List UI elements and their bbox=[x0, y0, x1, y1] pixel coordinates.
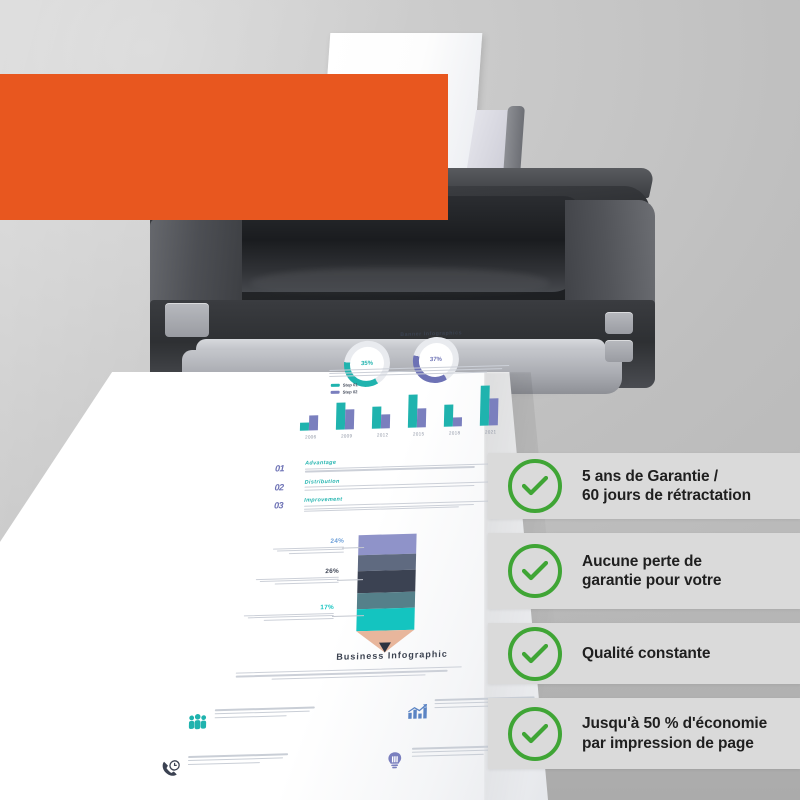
step-number: 03 bbox=[274, 500, 283, 510]
pencil-pyramid-chart bbox=[356, 534, 417, 646]
bar-category-label: 2006 bbox=[296, 434, 326, 440]
list-item: 02 Distribution bbox=[274, 474, 489, 492]
pyramid-label-1: 24% bbox=[258, 538, 344, 555]
feature-block-support bbox=[160, 753, 288, 768]
callout-4-line2: par impression de page bbox=[582, 734, 767, 753]
donut-chart-1: 35% bbox=[343, 340, 390, 387]
callout-1-line1: 5 ans de Garantie / bbox=[582, 467, 751, 486]
donut-chart-2: 37% bbox=[412, 336, 459, 383]
bar-group bbox=[440, 426, 470, 427]
bar-group bbox=[368, 428, 398, 429]
people-group-icon bbox=[186, 711, 208, 732]
bar-category-label: 2021 bbox=[476, 429, 506, 435]
bar-chart-growth-icon bbox=[406, 701, 428, 722]
pyramid-label-3: 17% bbox=[234, 604, 334, 622]
bar-group bbox=[404, 427, 434, 428]
pyramid-segment-1 bbox=[358, 534, 416, 556]
bar-step-02 bbox=[489, 398, 499, 426]
infographic-bottom-title: Business Infographic bbox=[307, 648, 477, 663]
lightbulb-idea-icon bbox=[383, 750, 405, 771]
bar-step-02 bbox=[345, 409, 354, 429]
bar-step-02 bbox=[381, 415, 390, 429]
callout-1-line2: 60 jours de rétractation bbox=[582, 486, 751, 505]
pyramid-label-3-value: 17% bbox=[234, 604, 334, 614]
list-item: 01 Advantage bbox=[275, 456, 490, 474]
numbered-step-list: 01 Advantage 02 Distribution 03 Improvem… bbox=[274, 456, 490, 521]
check-circle-icon bbox=[508, 544, 562, 598]
check-circle-icon bbox=[508, 627, 562, 681]
feature-callout-2-text: Aucune perte de garantie pour votre bbox=[582, 552, 721, 591]
step-number: 01 bbox=[275, 463, 284, 473]
feature-callout-1[interactable]: 5 ans de Garantie / 60 jours de rétracta… bbox=[488, 453, 800, 519]
check-circle-icon bbox=[508, 459, 562, 513]
callout-2-line2: garantie pour votre bbox=[582, 571, 721, 590]
callout-4-line1: Jusqu'à 50 % d'économie bbox=[582, 714, 767, 733]
bar-step-02 bbox=[453, 417, 462, 426]
product-marketing-image: Banner Infographics 35% 37% Step 01 Step… bbox=[0, 0, 800, 800]
pyramid-segment-5 bbox=[356, 608, 415, 632]
infographic-bottom-paragraph bbox=[236, 666, 462, 682]
feature-callout-1-text: 5 ans de Garantie / 60 jours de rétracta… bbox=[582, 467, 751, 506]
pyramid-label-2-value: 26% bbox=[245, 568, 339, 578]
pyramid-segment-3 bbox=[357, 570, 416, 594]
feature-callout-3[interactable]: Qualité constante bbox=[488, 623, 800, 684]
bar-group bbox=[296, 430, 326, 431]
pyramid-segment-2 bbox=[358, 554, 416, 572]
pyramid-label-2: 26% bbox=[245, 568, 339, 586]
bar-group bbox=[332, 429, 362, 430]
pyramid-segment-4 bbox=[357, 592, 415, 610]
bar-category-label: 2018 bbox=[440, 430, 470, 436]
callout-3-line1: Qualité constante bbox=[582, 644, 710, 663]
bar-group bbox=[476, 425, 506, 426]
feature-callout-4[interactable]: Jusqu'à 50 % d'économie par impression d… bbox=[488, 698, 800, 769]
check-circle-icon bbox=[508, 707, 562, 761]
phone-clock-icon bbox=[160, 758, 182, 779]
feature-callout-4-text: Jusqu'à 50 % d'économie par impression d… bbox=[582, 714, 767, 753]
bar-step-02 bbox=[309, 416, 318, 431]
step-number: 02 bbox=[274, 482, 283, 492]
callout-2-line1: Aucune perte de bbox=[582, 552, 721, 571]
bar-category-label: 2009 bbox=[332, 433, 362, 439]
bar-category-label: 2015 bbox=[404, 431, 434, 437]
bar-category-label: 2012 bbox=[368, 432, 398, 438]
bar-chart: 200620092012201520182021 bbox=[296, 381, 519, 439]
feature-callout-2[interactable]: Aucune perte de garantie pour votre bbox=[488, 533, 800, 609]
headline-banner bbox=[0, 74, 448, 220]
feature-callout-3-text: Qualité constante bbox=[582, 644, 710, 663]
list-item: 03 Improvement bbox=[274, 493, 489, 513]
bar-step-02 bbox=[417, 408, 426, 427]
pyramid-label-1-value: 24% bbox=[258, 538, 344, 547]
bar-step-01 bbox=[300, 422, 309, 430]
feature-block-people bbox=[187, 706, 315, 721]
